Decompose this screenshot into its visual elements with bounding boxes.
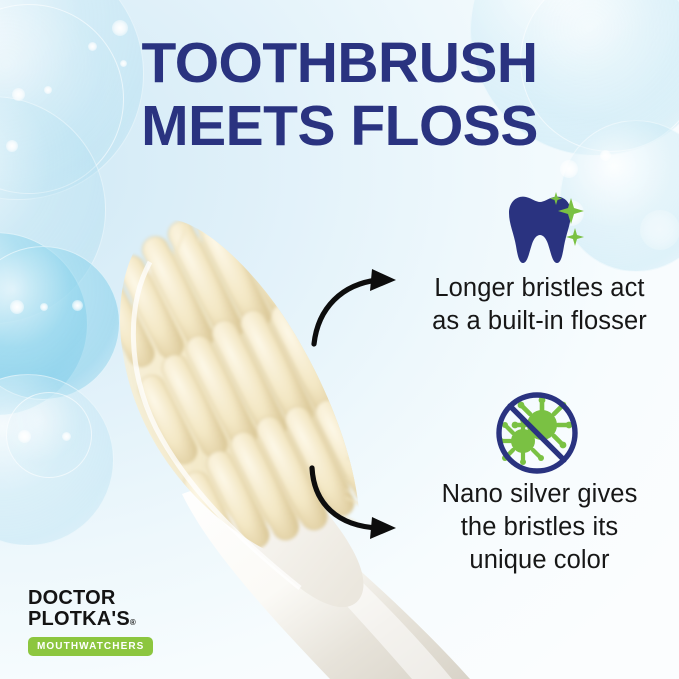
callout-line: unique color bbox=[400, 544, 679, 577]
logo-line-plotkas: PLOTKA'S® bbox=[28, 609, 153, 634]
callout-longer-bristles-text: Longer bristles act as a built-in flosse… bbox=[400, 272, 679, 338]
callout-line: Nano silver gives bbox=[400, 478, 679, 511]
logo-apostrophe-s: 'S bbox=[111, 608, 130, 630]
product-infographic: TOOTHBRUSH MEETS FLOSS bbox=[0, 0, 679, 679]
callout-line: Longer bristles act bbox=[400, 272, 679, 305]
callout-nano-silver-text: Nano silver gives the bristles its uniqu… bbox=[400, 478, 679, 577]
logo-tagline-pill: MOUTHWATCHERS bbox=[28, 637, 153, 656]
tooth-sparkle-icon bbox=[492, 190, 588, 276]
callout-line: as a built-in flosser bbox=[400, 305, 679, 338]
logo-line-doctor: DOCTOR bbox=[28, 588, 153, 609]
curved-arrow-down-right-icon bbox=[306, 464, 406, 544]
registered-trademark-icon: ® bbox=[130, 618, 136, 627]
brand-logo: DOCTOR PLOTKA'S® MOUTHWATCHERS bbox=[28, 588, 153, 656]
curved-arrow-up-right-icon bbox=[306, 266, 406, 348]
callout-line: the bristles its bbox=[400, 511, 679, 544]
logo-plotka-text: PLOTKA bbox=[28, 608, 111, 630]
no-germs-icon bbox=[492, 392, 582, 478]
